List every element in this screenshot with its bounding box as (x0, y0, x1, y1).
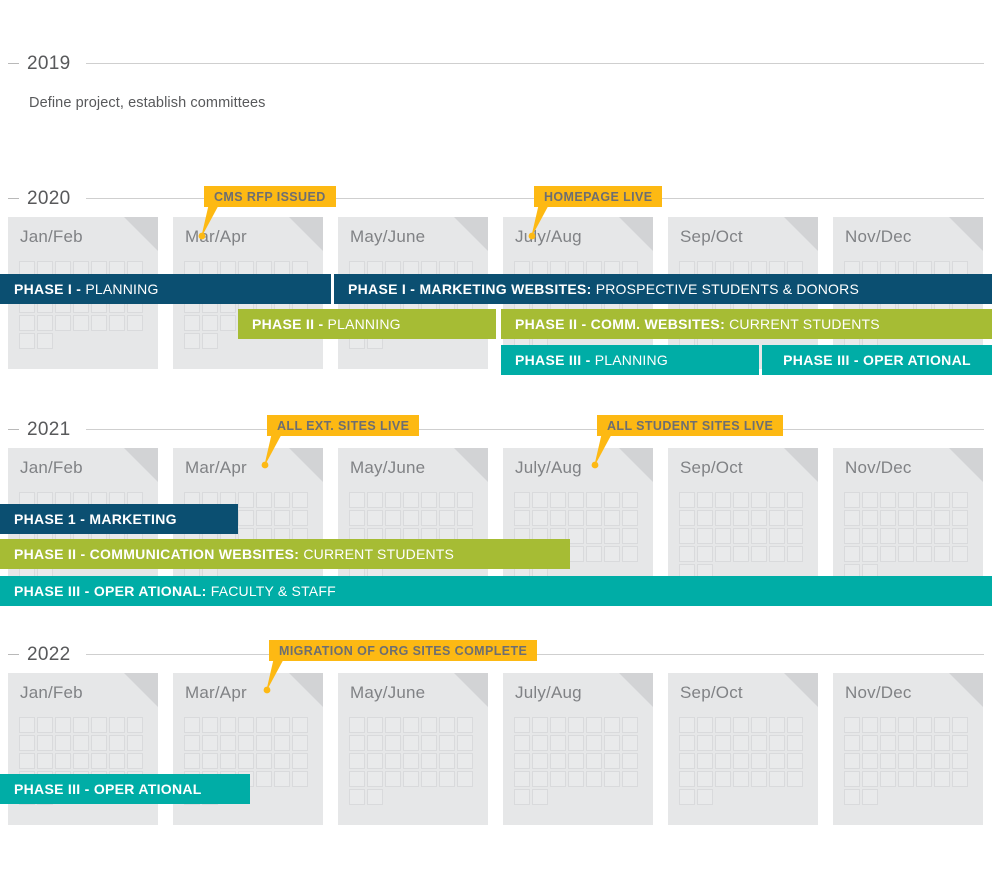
calendar-day-cell (202, 753, 218, 769)
calendar-day-cell (715, 510, 731, 526)
calendar-day-cell (679, 753, 695, 769)
calendar-day-cell (622, 735, 638, 751)
phase-bar-light: FACULTY & STAFF (207, 583, 336, 599)
calendar-grid (844, 717, 972, 805)
calendar-day-cell (514, 753, 530, 769)
calendar-day-cell (787, 771, 803, 787)
calendar-day-cell (679, 546, 695, 562)
calendar-day-cell (457, 735, 473, 751)
calendar-day-cell (457, 717, 473, 733)
calendar-day-cell (37, 333, 53, 349)
calendar-day-cell (421, 492, 437, 508)
calendar-day-cell (934, 528, 950, 544)
calendar-day-cell (898, 771, 914, 787)
phase-bar-bold: PHASE I - MARKETING WEBSITES: (348, 281, 592, 297)
page-fold-icon (619, 217, 653, 251)
calendar-day-cell (568, 528, 584, 544)
calendar-day-cell (220, 735, 236, 751)
calendar-day-cell (439, 753, 455, 769)
calendar-day-cell (622, 753, 638, 769)
calendar-day-cell (586, 771, 602, 787)
calendar-day-cell (568, 735, 584, 751)
calendar-day-cell (604, 510, 620, 526)
calendar-day-cell (751, 546, 767, 562)
year-header-2019: 2019 (0, 52, 992, 76)
calendar-day-cell (349, 510, 365, 526)
calendar-day-cell (862, 735, 878, 751)
calendar-day-cell (385, 771, 401, 787)
calendar-day-cell (733, 492, 749, 508)
calendar-day-cell (697, 753, 713, 769)
phase-bar: PHASE III - PLANNING (501, 345, 759, 375)
calendar-day-cell (55, 315, 71, 331)
calendar-day-cell (514, 789, 530, 805)
calendar-day-cell (202, 717, 218, 733)
year-label-2021: 2021 (27, 418, 70, 442)
calendar-day-cell (109, 717, 125, 733)
calendar-day-cell (934, 492, 950, 508)
phase-bar-bold: PHASE III - (515, 352, 591, 368)
calendar-day-cell (862, 717, 878, 733)
calendar-day-cell (604, 492, 620, 508)
calendar-grid (844, 492, 972, 580)
calendar-day-cell (787, 492, 803, 508)
calendar-day-cell (715, 717, 731, 733)
year-dash-icon (8, 429, 19, 430)
calendar-day-cell (55, 735, 71, 751)
calendar-day-cell (697, 717, 713, 733)
calendar-day-cell (349, 735, 365, 751)
calendar-day-cell (862, 528, 878, 544)
phase-bar: PHASE III - OPER ATIONAL (0, 774, 250, 804)
calendar-day-cell (439, 492, 455, 508)
calendar-grid (514, 717, 642, 805)
calendar-day-cell (622, 771, 638, 787)
calendar-day-cell (715, 492, 731, 508)
calendar-day-cell (769, 771, 785, 787)
calendar-day-cell (73, 717, 89, 733)
calendar-day-cell (292, 717, 308, 733)
page-fold-icon (619, 673, 653, 707)
callout-label: ALL STUDENT SITES LIVE (597, 415, 783, 436)
calendar-day-cell (550, 771, 566, 787)
page-fold-icon (124, 673, 158, 707)
calendar-day-cell (751, 753, 767, 769)
calendar-day-cell (622, 546, 638, 562)
calendar-day-cell (514, 510, 530, 526)
calendar-day-cell (514, 771, 530, 787)
calendar-day-cell (880, 771, 896, 787)
calendar-day-cell (952, 528, 968, 544)
calendar-day-cell (952, 753, 968, 769)
calendar-day-cell (916, 546, 932, 562)
calendar-day-cell (679, 528, 695, 544)
calendar-day-cell (898, 735, 914, 751)
calendar-day-cell (202, 333, 218, 349)
calendar-day-cell (898, 510, 914, 526)
calendar-day-cell (622, 528, 638, 544)
calendar-day-cell (715, 771, 731, 787)
callout-label: CMS RFP ISSUED (204, 186, 336, 207)
calendar-day-cell (769, 492, 785, 508)
page-fold-icon (454, 448, 488, 482)
calendar-day-cell (604, 546, 620, 562)
calendar-day-cell (238, 717, 254, 733)
calendar-day-cell (385, 735, 401, 751)
calendar-day-cell (439, 510, 455, 526)
callout-label: ALL EXT. SITES LIVE (267, 415, 419, 436)
month-card: May/June (338, 673, 488, 825)
calendar-day-cell (733, 771, 749, 787)
calendar-day-cell (256, 735, 272, 751)
calendar-day-cell (109, 735, 125, 751)
phase-bar-light: PLANNING (81, 281, 158, 297)
calendar-day-cell (421, 735, 437, 751)
calendar-day-cell (880, 492, 896, 508)
calendar-day-cell (19, 753, 35, 769)
calendar-day-cell (349, 717, 365, 733)
calendar-day-cell (751, 771, 767, 787)
calendar-day-cell (91, 717, 107, 733)
calendar-day-cell (880, 717, 896, 733)
calendar-day-cell (37, 315, 53, 331)
calendar-day-cell (568, 753, 584, 769)
calendar-day-cell (952, 771, 968, 787)
calendar-day-cell (367, 510, 383, 526)
calendar-day-cell (586, 528, 602, 544)
calendar-day-cell (403, 717, 419, 733)
calendar-day-cell (586, 735, 602, 751)
calendar-day-cell (733, 717, 749, 733)
month-card-title: July/Aug (515, 458, 582, 478)
calendar-day-cell (385, 717, 401, 733)
month-card-title: May/June (350, 458, 425, 478)
year-label-2019: 2019 (27, 52, 70, 76)
calendar-day-cell (604, 528, 620, 544)
month-card-title: Sep/Oct (680, 683, 743, 703)
calendar-day-cell (457, 771, 473, 787)
calendar-day-cell (184, 315, 200, 331)
calendar-day-cell (916, 771, 932, 787)
calendar-day-cell (787, 546, 803, 562)
calendar-day-cell (586, 492, 602, 508)
calendar-day-cell (715, 753, 731, 769)
calendar-day-cell (769, 735, 785, 751)
calendar-day-cell (421, 510, 437, 526)
calendar-day-cell (733, 735, 749, 751)
calendar-day-cell (385, 492, 401, 508)
calendar-day-cell (952, 492, 968, 508)
calendar-day-cell (439, 735, 455, 751)
calendar-day-cell (604, 717, 620, 733)
calendar-day-cell (514, 735, 530, 751)
calendar-day-cell (421, 771, 437, 787)
calendar-day-cell (568, 546, 584, 562)
calendar-day-cell (292, 735, 308, 751)
calendar-day-cell (862, 771, 878, 787)
calendar-day-cell (568, 717, 584, 733)
phase-bar-light: PLANNING (323, 316, 400, 332)
calendar-day-cell (862, 753, 878, 769)
phase-bar-light: CURRENT STUDENTS (725, 316, 880, 332)
callout-label: MIGRATION OF ORG SITES COMPLETE (269, 640, 537, 661)
page-fold-icon (784, 217, 818, 251)
calendar-day-cell (127, 735, 143, 751)
year-dash-icon (8, 654, 19, 655)
calendar-day-cell (697, 735, 713, 751)
calendar-day-cell (292, 510, 308, 526)
calendar-day-cell (715, 528, 731, 544)
phase-bar: PHASE I - MARKETING WEBSITES: PROSPECTIV… (334, 274, 992, 304)
page-fold-icon (454, 673, 488, 707)
calendar-day-cell (514, 492, 530, 508)
calendar-day-cell (550, 735, 566, 751)
calendar-day-cell (202, 315, 218, 331)
month-card-title: Sep/Oct (680, 458, 743, 478)
month-card-title: Jan/Feb (20, 458, 83, 478)
month-card: July/Aug (503, 673, 653, 825)
phase-bar: PHASE III - OPER ATIONAL: FACULTY & STAF… (0, 576, 992, 606)
month-card-title: Jan/Feb (20, 227, 83, 247)
page-fold-icon (124, 217, 158, 251)
calendar-day-cell (697, 492, 713, 508)
calendar-day-cell (421, 717, 437, 733)
calendar-day-cell (769, 546, 785, 562)
phase-bar: PHASE II - COMMUNICATION WEBSITES: CURRE… (0, 539, 570, 569)
calendar-day-cell (586, 546, 602, 562)
calendar-day-cell (622, 510, 638, 526)
calendar-day-cell (256, 717, 272, 733)
calendar-day-cell (880, 546, 896, 562)
calendar-day-cell (274, 771, 290, 787)
calendar-day-cell (532, 735, 548, 751)
calendar-day-cell (898, 546, 914, 562)
calendar-day-cell (898, 717, 914, 733)
calendar-day-cell (751, 492, 767, 508)
year-rule (86, 63, 984, 64)
calendar-grid (679, 717, 807, 805)
calendar-day-cell (844, 771, 860, 787)
calendar-day-cell (550, 510, 566, 526)
page-fold-icon (784, 448, 818, 482)
calendar-day-cell (109, 315, 125, 331)
calendar-day-cell (622, 717, 638, 733)
calendar-day-cell (787, 753, 803, 769)
calendar-day-cell (550, 492, 566, 508)
month-card-title: Nov/Dec (845, 683, 912, 703)
phase-bar-bold: PHASE I - (14, 281, 81, 297)
calendar-day-cell (37, 735, 53, 751)
calendar-day-cell (733, 753, 749, 769)
calendar-day-cell (238, 510, 254, 526)
month-card-title: Mar/Apr (185, 458, 247, 478)
calendar-day-cell (457, 510, 473, 526)
calendar-day-cell (697, 528, 713, 544)
page-fold-icon (289, 217, 323, 251)
calendar-day-cell (934, 510, 950, 526)
calendar-day-cell (604, 735, 620, 751)
calendar-day-cell (916, 735, 932, 751)
calendar-day-cell (568, 492, 584, 508)
calendar-day-cell (256, 510, 272, 526)
phase-bar: PHASE 1 - MARKETING (0, 504, 238, 534)
calendar-day-cell (952, 717, 968, 733)
calendar-grid (349, 717, 477, 805)
month-card-title: Nov/Dec (845, 227, 912, 247)
phase-bar-light: PROSPECTIVE STUDENTS & DONORS (592, 281, 859, 297)
calendar-day-cell (751, 735, 767, 751)
calendar-day-cell (898, 753, 914, 769)
calendar-day-cell (844, 510, 860, 526)
calendar-day-cell (844, 753, 860, 769)
calendar-day-cell (898, 528, 914, 544)
calendar-day-cell (952, 546, 968, 562)
calendar-day-cell (787, 510, 803, 526)
month-card-title: Jan/Feb (20, 683, 83, 703)
page-fold-icon (454, 217, 488, 251)
calendar-day-cell (274, 753, 290, 769)
calendar-day-cell (403, 510, 419, 526)
phase-bar: PHASE III - OPER ATIONAL (762, 345, 992, 375)
calendar-day-cell (844, 528, 860, 544)
calendar-day-cell (697, 771, 713, 787)
calendar-day-cell (55, 753, 71, 769)
calendar-day-cell (679, 510, 695, 526)
calendar-day-cell (37, 753, 53, 769)
calendar-grid (679, 492, 807, 580)
month-card-title: July/Aug (515, 683, 582, 703)
calendar-day-cell (862, 492, 878, 508)
calendar-day-cell (274, 717, 290, 733)
calendar-day-cell (679, 735, 695, 751)
calendar-day-cell (439, 717, 455, 733)
month-card-title: Nov/Dec (845, 458, 912, 478)
calendar-day-cell (751, 717, 767, 733)
calendar-day-cell (184, 717, 200, 733)
year-label-2020: 2020 (27, 187, 70, 211)
calendar-day-cell (586, 753, 602, 769)
phase-bar-bold: PHASE II - COMM. WEBSITES: (515, 316, 725, 332)
year-description-2019: Define project, establish committees (29, 95, 266, 111)
calendar-day-cell (679, 771, 695, 787)
calendar-day-cell (697, 789, 713, 805)
calendar-day-cell (532, 510, 548, 526)
calendar-day-cell (127, 753, 143, 769)
calendar-day-cell (73, 735, 89, 751)
calendar-day-cell (844, 717, 860, 733)
calendar-day-cell (238, 735, 254, 751)
calendar-day-cell (880, 753, 896, 769)
calendar-day-cell (367, 717, 383, 733)
callout-label: HOMEPAGE LIVE (534, 186, 662, 207)
year-header-2020: 2020 (0, 187, 992, 211)
page-fold-icon (949, 673, 983, 707)
calendar-day-cell (292, 753, 308, 769)
timeline-infographic: 2019 Define project, establish committee… (0, 0, 992, 891)
calendar-day-cell (457, 753, 473, 769)
calendar-day-cell (349, 789, 365, 805)
calendar-day-cell (367, 789, 383, 805)
month-card-title: Mar/Apr (185, 683, 247, 703)
calendar-day-cell (202, 735, 218, 751)
calendar-day-cell (292, 771, 308, 787)
calendar-day-cell (844, 546, 860, 562)
calendar-day-cell (586, 510, 602, 526)
calendar-day-cell (697, 510, 713, 526)
calendar-day-cell (934, 753, 950, 769)
calendar-day-cell (550, 717, 566, 733)
calendar-day-cell (292, 492, 308, 508)
year-dash-icon (8, 63, 19, 64)
phase-bar: PHASE I - PLANNING (0, 274, 331, 304)
calendar-day-cell (184, 333, 200, 349)
calendar-day-cell (532, 789, 548, 805)
calendar-day-cell (19, 333, 35, 349)
calendar-day-cell (586, 717, 602, 733)
calendar-day-cell (274, 510, 290, 526)
calendar-day-cell (109, 753, 125, 769)
calendar-day-cell (73, 315, 89, 331)
calendar-day-cell (916, 753, 932, 769)
calendar-day-cell (73, 753, 89, 769)
calendar-day-cell (439, 771, 455, 787)
calendar-day-cell (934, 735, 950, 751)
calendar-day-cell (733, 510, 749, 526)
calendar-day-cell (403, 492, 419, 508)
calendar-day-cell (421, 753, 437, 769)
phase-bar-light: CURRENT STUDENTS (299, 546, 454, 562)
calendar-day-cell (916, 528, 932, 544)
phase-bar-bold: PHASE II - COMMUNICATION WEBSITES: (14, 546, 299, 562)
calendar-day-cell (550, 753, 566, 769)
calendar-day-cell (751, 528, 767, 544)
calendar-day-cell (55, 717, 71, 733)
calendar-day-cell (367, 492, 383, 508)
calendar-day-cell (238, 492, 254, 508)
calendar-day-cell (532, 717, 548, 733)
calendar-day-cell (769, 717, 785, 733)
phase-bar-bold: PHASE II - (252, 316, 323, 332)
page-fold-icon (949, 448, 983, 482)
calendar-day-cell (769, 753, 785, 769)
phase-bar: PHASE II - COMM. WEBSITES: CURRENT STUDE… (501, 309, 992, 339)
calendar-day-cell (604, 771, 620, 787)
calendar-day-cell (568, 771, 584, 787)
calendar-day-cell (385, 510, 401, 526)
calendar-day-cell (403, 753, 419, 769)
calendar-day-cell (934, 771, 950, 787)
calendar-day-cell (274, 492, 290, 508)
phase-bar-bold: PHASE III - OPER ATIONAL: (14, 583, 207, 599)
calendar-day-cell (220, 315, 236, 331)
calendar-day-cell (127, 717, 143, 733)
page-fold-icon (784, 673, 818, 707)
calendar-day-cell (715, 735, 731, 751)
calendar-day-cell (184, 753, 200, 769)
calendar-day-cell (238, 753, 254, 769)
calendar-day-cell (19, 717, 35, 733)
calendar-day-cell (916, 717, 932, 733)
calendar-day-cell (367, 735, 383, 751)
year-dash-icon (8, 198, 19, 199)
calendar-day-cell (622, 492, 638, 508)
calendar-day-cell (349, 753, 365, 769)
calendar-day-cell (934, 546, 950, 562)
calendar-day-cell (532, 771, 548, 787)
calendar-day-cell (769, 510, 785, 526)
calendar-day-cell (952, 735, 968, 751)
month-card-title: Sep/Oct (680, 227, 743, 247)
